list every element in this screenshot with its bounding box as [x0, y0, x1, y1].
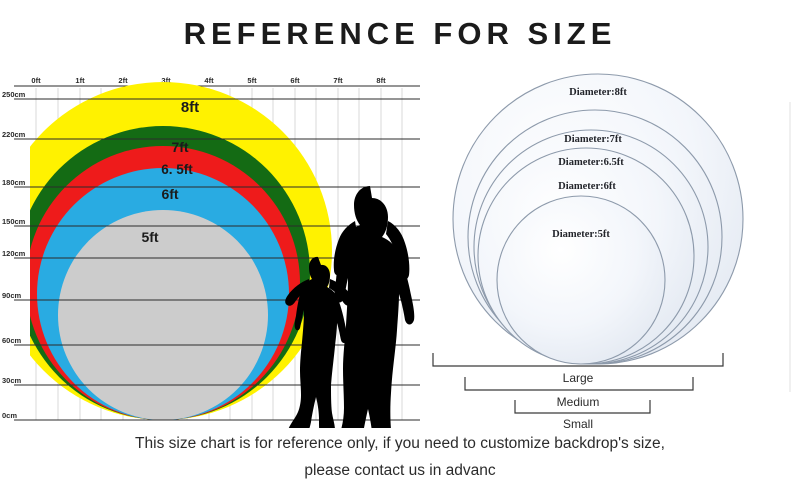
x-tick-0ft: 0ft	[31, 76, 41, 85]
y-tick-250cm: 250cm	[2, 90, 26, 99]
disc-5ft	[58, 210, 268, 420]
x-tick-7ft: 7ft	[333, 76, 343, 85]
bracket-labels: Large Medium Small	[557, 371, 600, 430]
disc-size-diagram: Diameter:8ft Diameter:7ft Diameter:6.5ft…	[425, 62, 800, 430]
footer-caption: This size chart is for reference only, i…	[0, 430, 800, 484]
x-tick-5ft: 5ft	[247, 76, 257, 85]
y-tick-60cm: 60cm	[2, 336, 22, 345]
bracket-label-medium: Medium	[557, 395, 600, 409]
height-chart-svg: 0ft 1ft 2ft 3ft 4ft 5ft 6ft 7ft 8ft	[0, 74, 430, 428]
disc-label-6.5ft: Diameter:6.5ft	[558, 157, 624, 168]
label-6ft: 6ft	[161, 186, 178, 202]
x-tick-8ft: 8ft	[376, 76, 386, 85]
x-tick-1ft: 1ft	[75, 76, 85, 85]
page-title: REFERENCE FOR SIZE	[0, 16, 800, 52]
y-tick-150cm: 150cm	[2, 217, 26, 226]
disc-diagram-svg: Diameter:8ft Diameter:7ft Diameter:6.5ft…	[425, 62, 800, 430]
y-tick-90cm: 90cm	[2, 291, 22, 300]
height-reference-chart: 0ft 1ft 2ft 3ft 4ft 5ft 6ft 7ft 8ft	[0, 74, 430, 428]
y-tick-120cm: 120cm	[2, 249, 26, 258]
label-5ft: 5ft	[141, 229, 158, 245]
disc-label-5ft: Diameter:5ft	[552, 229, 610, 240]
size-chart-page: REFERENCE FOR SIZE 0ft 1ft 2ft 3ft 4ft 5…	[0, 0, 800, 488]
x-tick-4ft: 4ft	[204, 76, 214, 85]
bracket-label-large: Large	[563, 371, 594, 385]
nested-discs	[453, 74, 743, 364]
y-tick-180cm: 180cm	[2, 178, 26, 187]
label-8ft: 8ft	[181, 99, 199, 116]
y-tick-0cm: 0cm	[2, 411, 17, 420]
x-tick-6ft: 6ft	[290, 76, 300, 85]
disc-label-8ft: Diameter:8ft	[569, 87, 627, 98]
disc-label-6ft: Diameter:6ft	[558, 181, 616, 192]
size-discs-group	[0, 82, 332, 420]
caption-line-1: This size chart is for reference only, i…	[0, 430, 800, 457]
disc-circle-5ft	[497, 196, 665, 364]
caption-line-2: please contact us in advanc	[0, 457, 800, 484]
y-axis-tick-labels: 250cm 220cm 180cm 150cm 120cm 90cm 60cm …	[2, 90, 26, 420]
label-6.5ft: 6. 5ft	[161, 162, 193, 177]
disc-label-7ft: Diameter:7ft	[564, 134, 622, 145]
label-7ft: 7ft	[171, 139, 188, 155]
y-tick-220cm: 220cm	[2, 130, 26, 139]
x-tick-2ft: 2ft	[118, 76, 128, 85]
y-tick-30cm: 30cm	[2, 376, 22, 385]
bracket-label-small: Small	[563, 417, 593, 430]
x-axis-tick-labels: 0ft 1ft 2ft 3ft 4ft 5ft 6ft 7ft 8ft	[31, 76, 386, 85]
